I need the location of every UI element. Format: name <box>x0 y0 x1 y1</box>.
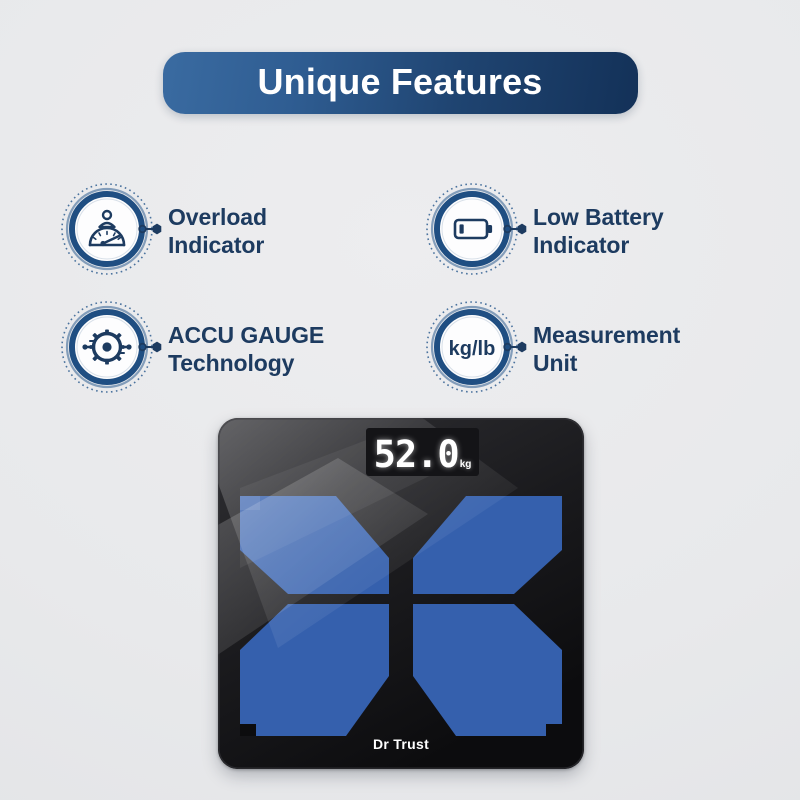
feature-icon-badge <box>423 179 527 283</box>
feature-icon-badge <box>58 179 162 283</box>
page-title: Unique Features <box>257 64 542 103</box>
title-banner: Unique Features <box>163 52 638 114</box>
feature-item-measurement-unit[interactable]: kg/lb Measurement Unit <box>423 290 758 408</box>
kg-lb-icon-text: kg/lb <box>449 338 496 360</box>
scale-led-display: 52.0 kg <box>366 428 479 476</box>
kg-lb-unit-icon: kg/lb <box>423 297 527 401</box>
weight-value: 52.0 <box>374 436 459 473</box>
weight-unit: kg <box>460 460 472 470</box>
feature-icon-badge <box>58 297 162 401</box>
feature-label: Overload Indicator <box>168 203 267 259</box>
product-weighing-scale: 52.0 kg Dr Trust <box>218 418 584 769</box>
brand-logo-text: Dr Trust <box>218 736 584 752</box>
gear-circuit-icon <box>58 297 162 401</box>
feature-item-accu-gauge-technology[interactable]: ACCU GAUGE Technology <box>58 290 423 408</box>
feature-item-overload-indicator[interactable]: Overload Indicator <box>58 172 423 290</box>
feature-label: Measurement Unit <box>533 321 680 377</box>
features-grid: Overload Indicator Low Battery Indicator <box>58 172 758 408</box>
feature-icon-badge: kg/lb <box>423 297 527 401</box>
low-battery-icon <box>423 179 527 283</box>
overload-gauge-icon <box>58 179 162 283</box>
title-banner-container: Unique Features <box>0 52 800 114</box>
feature-item-low-battery-indicator[interactable]: Low Battery Indicator <box>423 172 758 290</box>
feature-label: ACCU GAUGE Technology <box>168 321 324 377</box>
feature-label: Low Battery Indicator <box>533 203 664 259</box>
